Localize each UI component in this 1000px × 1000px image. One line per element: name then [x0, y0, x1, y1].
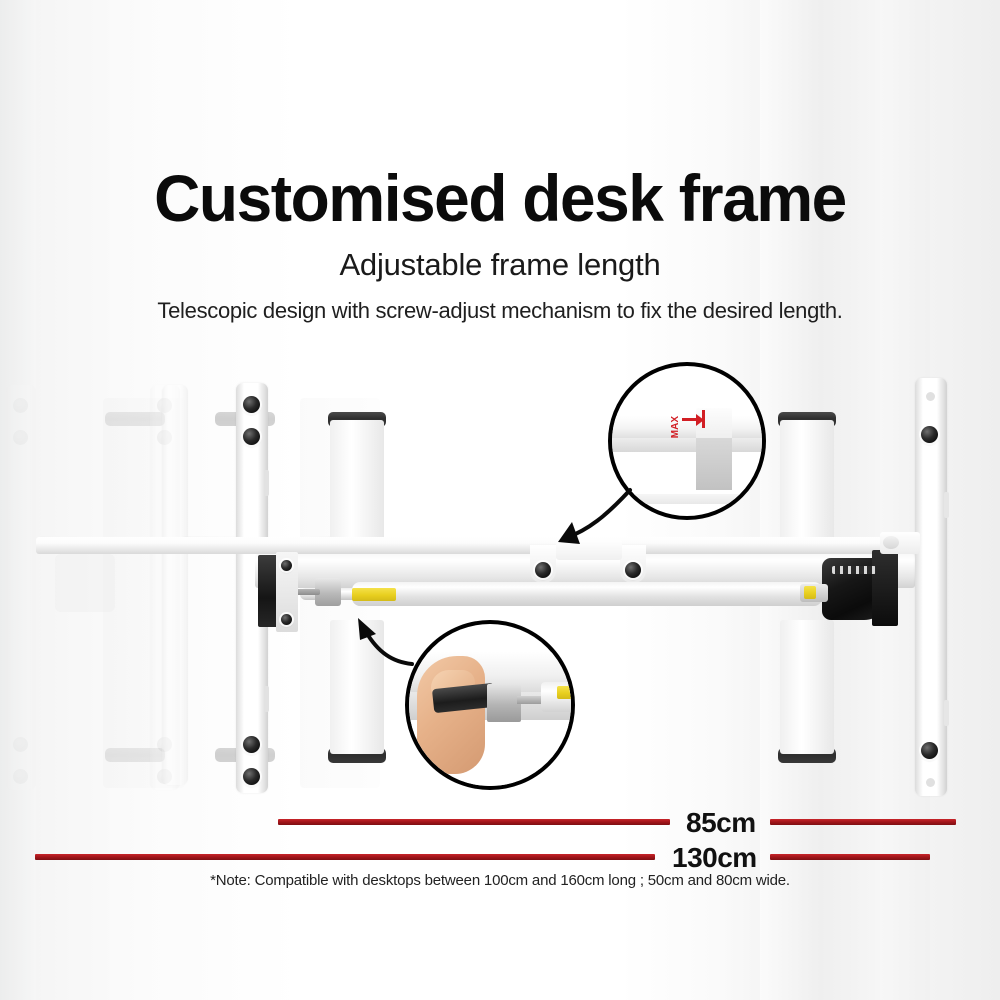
bolt-crossbar-2 — [625, 562, 641, 578]
bolt-right-bottom — [921, 742, 938, 759]
bolt-left-bottom-2 — [243, 768, 260, 785]
bolt-left-top-1 — [243, 396, 260, 413]
detail-circle-screw-adjust — [405, 620, 575, 790]
bolt-crossbar-1 — [535, 562, 551, 578]
telescopic-outer-tube — [352, 582, 822, 606]
main-crossbar-upper — [36, 537, 916, 554]
bolt-left-bracket-top — [281, 560, 292, 571]
measurement-85cm-label: 85cm — [686, 809, 756, 837]
warning-label-yellow — [352, 588, 396, 601]
compatibility-note: *Note: Compatible with desktops between … — [0, 872, 1000, 889]
support-column-right-top — [780, 420, 834, 544]
bolt-left-top-2 — [243, 428, 260, 445]
page-subtitle: Adjustable frame length — [0, 248, 1000, 282]
measurement-130cm-label: 130cm — [672, 844, 757, 872]
page-title: Customised desk frame — [15, 163, 985, 233]
bolt-left-bracket-bottom — [281, 614, 292, 625]
motor-back-plate — [872, 550, 898, 626]
measurement-line-85cm-right — [770, 819, 956, 825]
page-description: Telescopic design with screw-adjust mech… — [0, 298, 1000, 324]
callout-arrow-bottom — [348, 612, 428, 678]
motor-ribs — [832, 566, 876, 574]
support-column-left-top — [330, 420, 384, 544]
callout-arrow-top — [540, 482, 636, 554]
bolt-left-bottom-1 — [243, 736, 260, 753]
bolt-right-top — [921, 426, 938, 443]
max-marker-label: MAX — [670, 416, 681, 438]
motor-warning-label — [804, 586, 816, 599]
measurement-line-130cm-left — [35, 854, 655, 860]
measurement-line-130cm-right — [770, 854, 930, 860]
measurement-line-85cm-left — [278, 819, 670, 825]
product-marketing-image: Customised desk frame Adjustable frame l… — [0, 0, 1000, 1000]
callout-warning-label — [557, 686, 575, 699]
support-column-right-bottom — [780, 620, 834, 754]
